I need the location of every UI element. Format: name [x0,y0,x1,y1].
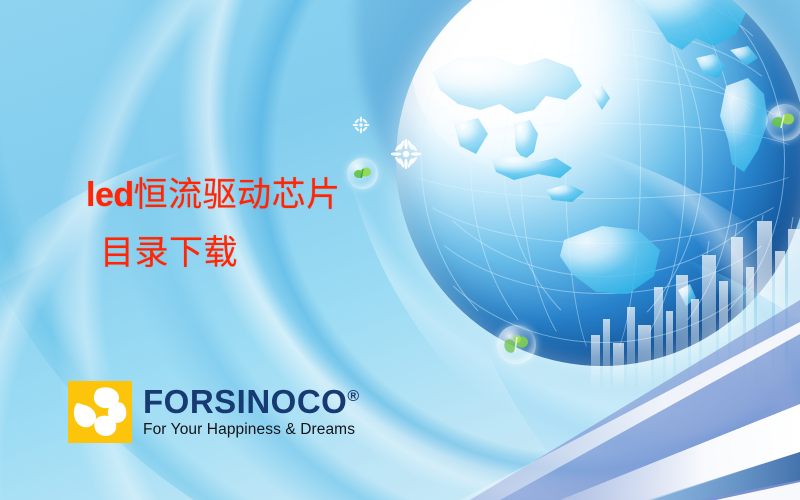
bubble-with-green-sprout-right [766,104,800,141]
bubble-with-green-sprout-left [347,158,378,189]
green-sprout-icon [347,158,378,189]
registered-trademark-icon: ® [347,388,359,405]
headline-line-2: 目录下载 [86,225,341,283]
green-sprout-icon [497,325,536,364]
bubble-with-green-sprout-lower [497,325,536,364]
logo-wordmark: FORSINOCO® [143,385,360,418]
headline-latin-word: led [86,176,134,214]
company-logo[interactable]: FORSINOCO® For Your Happiness & Dreams [68,381,360,443]
headline-text: led恒流驱动芯片 目录下载 [86,166,341,283]
city-skyline-icon [585,215,800,390]
logo-wordmark-text: FORSINOCO [143,383,347,420]
headline-line-1: led恒流驱动芯片 [86,166,341,225]
logo-text-block: FORSINOCO® For Your Happiness & Dreams [143,385,360,439]
green-sprout-icon [766,104,800,141]
headline-cjk-word: 恒流驱动芯片 [134,177,341,214]
white-starburst-large-icon [391,139,421,169]
promo-banner: led恒流驱动芯片 目录下载 FORSINOCO® For Your Happi… [0,0,800,500]
white-starburst-small-icon [352,116,370,134]
logo-tagline: For Your Happiness & Dreams [143,420,360,439]
four-petal-pinwheel-icon [68,381,132,443]
